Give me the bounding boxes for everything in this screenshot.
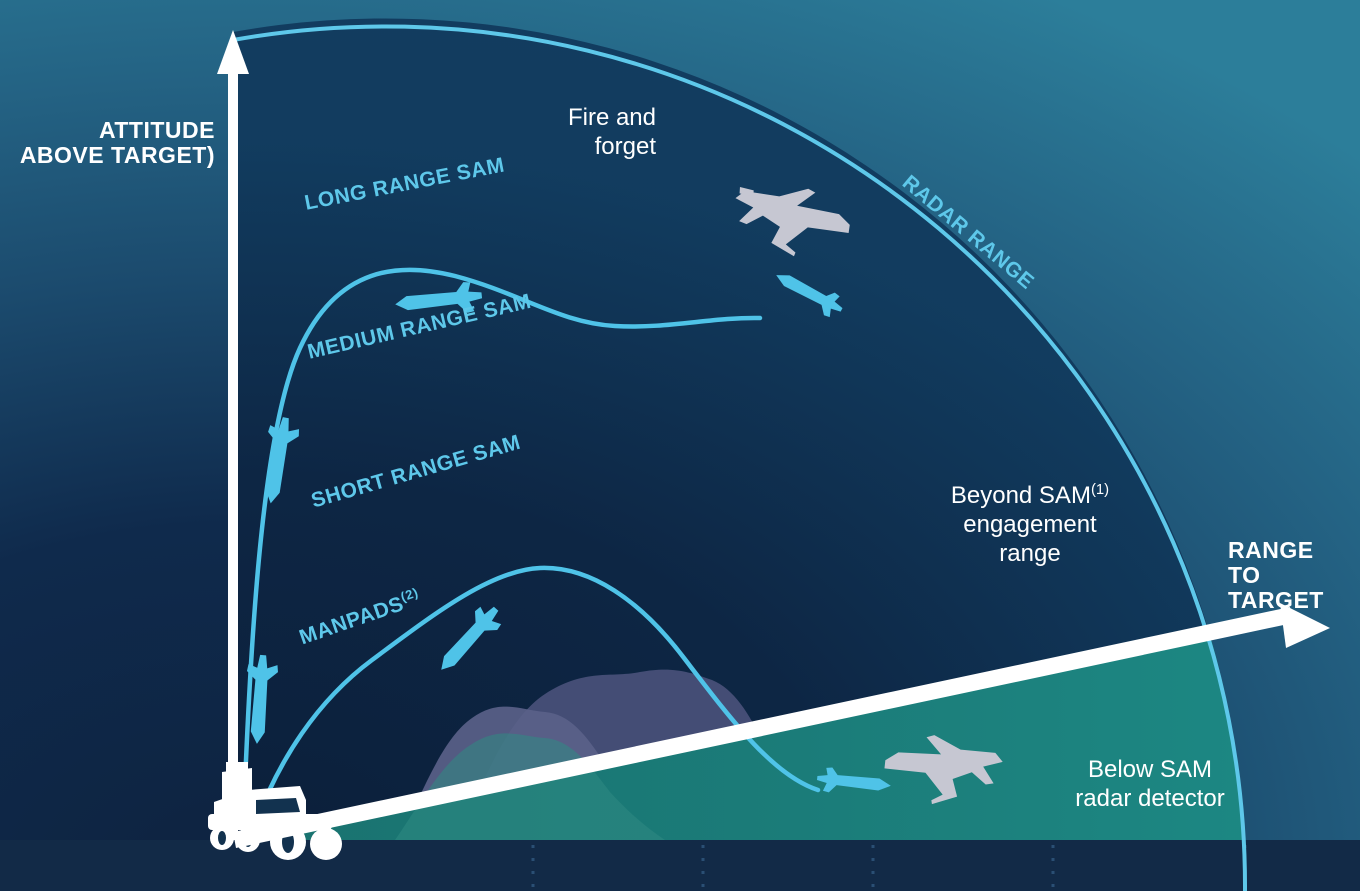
annotation-below-sam-radar: Below SAM radar detector <box>1040 755 1260 813</box>
annotation-beyond-sam-range: Beyond SAM(1)engagement range <box>930 476 1130 568</box>
diagram-canvas: ATTITUDE ABOVE TARGET) RANGE TO TARGET R… <box>0 0 1360 891</box>
altitude-axis-label: ATTITUDE ABOVE TARGET) <box>10 118 215 168</box>
ground-strip <box>0 840 1360 891</box>
beyond-sam-footnote-marker: (1) <box>1091 482 1109 498</box>
annotation-fire-and-forget: Fire and forget <box>500 103 656 161</box>
beyond-sam-line1: Beyond SAM <box>951 482 1091 509</box>
range-axis-label: RANGE TO TARGET <box>1228 538 1353 613</box>
beyond-sam-line2: engagement range <box>963 511 1096 567</box>
